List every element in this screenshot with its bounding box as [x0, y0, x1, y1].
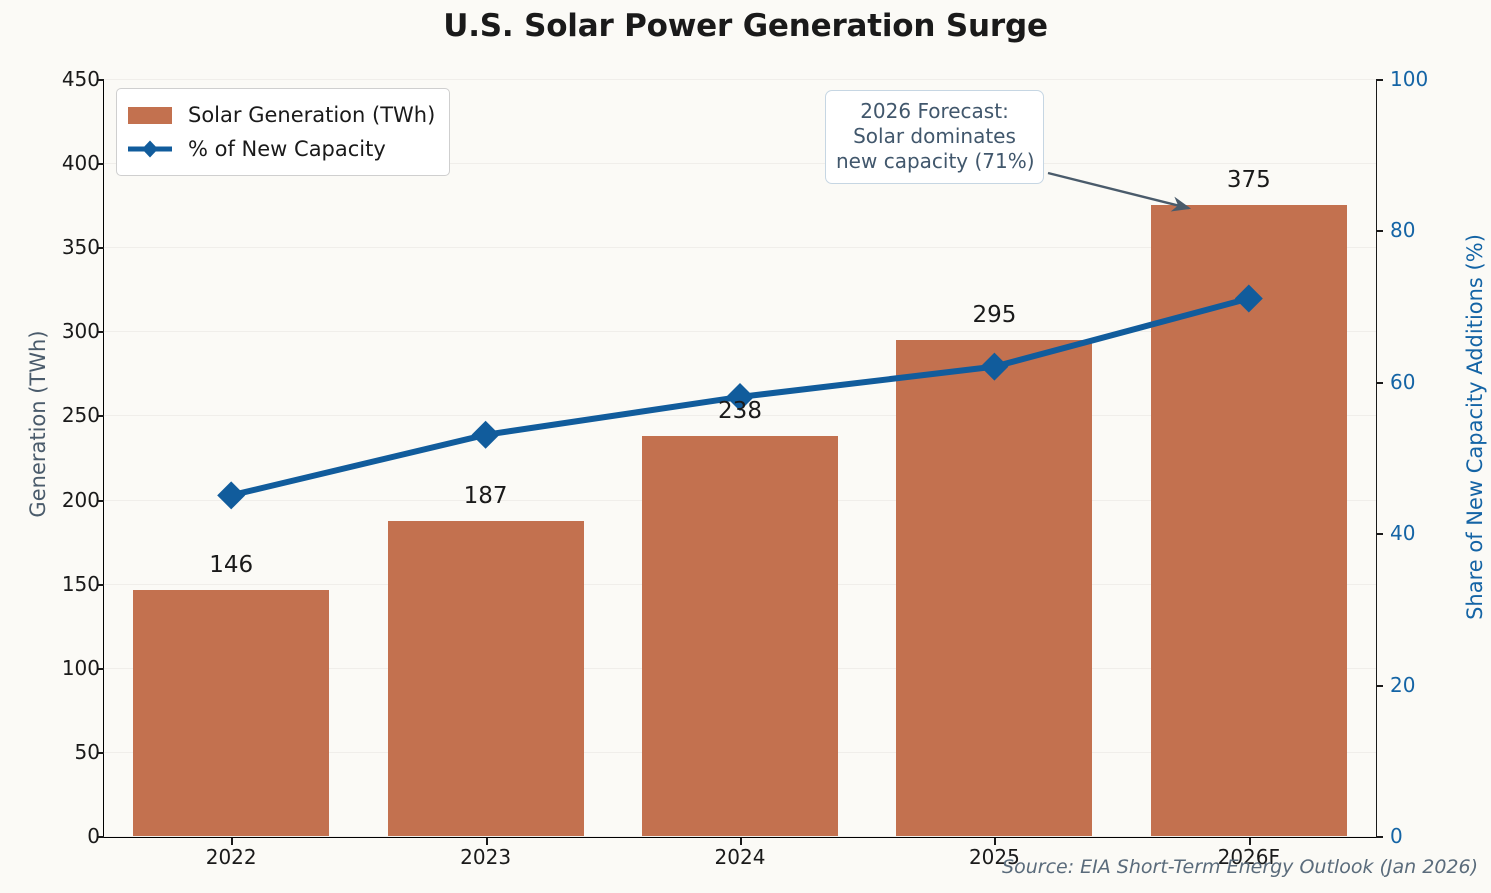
left-axis-tick-label: 250: [62, 403, 100, 427]
plot-area: 146187238295375 Solar Generation (TWh): [104, 79, 1376, 836]
left-axis-tick-label: 100: [62, 656, 100, 680]
left-axis-tick-label: 350: [62, 235, 100, 259]
left-axis-tick-label: 450: [62, 67, 100, 91]
x-axis-tick-mark: [1249, 838, 1251, 845]
bar-value-label: 146: [209, 552, 253, 578]
legend-label-new-capacity: % of New Capacity: [188, 137, 386, 161]
bar[interactable]: [133, 590, 329, 836]
x-axis-tick-mark: [740, 838, 742, 845]
right-axis-tick-mark: [1376, 836, 1383, 838]
line-marker[interactable]: [472, 421, 500, 449]
annotation-line-2: Solar dominates: [836, 124, 1033, 149]
right-axis-tick-label: 20: [1390, 673, 1415, 697]
right-axis-tick-label: 60: [1390, 370, 1415, 394]
left-axis-title: Generation (TWh): [26, 164, 50, 684]
left-axis-tick-label: 300: [62, 319, 100, 343]
left-axis-tick-label: 400: [62, 151, 100, 175]
right-axis-tick-label: 80: [1390, 218, 1415, 242]
left-axis-tick-mark: [97, 668, 104, 670]
legend-item-new-capacity[interactable]: % of New Capacity: [128, 132, 435, 166]
right-axis-tick-label: 0: [1390, 824, 1403, 848]
arrow-line: [1048, 173, 1189, 208]
x-axis-tick-mark: [486, 838, 488, 845]
line-diamond-swatch-icon: [128, 139, 172, 159]
line-marker[interactable]: [217, 481, 245, 509]
annotation-line-1: 2026 Forecast:: [836, 99, 1033, 124]
bar-swatch-icon: [128, 107, 172, 124]
forecast-annotation: 2026 Forecast: Solar dominates new capac…: [825, 90, 1044, 184]
left-axis-tick-mark: [97, 836, 104, 838]
left-axis-tick-mark: [97, 247, 104, 249]
left-axis-tick-mark: [97, 584, 104, 586]
legend-label-solar-generation: Solar Generation (TWh): [188, 103, 435, 127]
source-note: Source: EIA Short-Term Energy Outlook (J…: [0, 856, 1478, 878]
right-axis-tick-mark: [1376, 79, 1383, 81]
left-axis-tick-mark: [97, 500, 104, 502]
left-axis-tick-label: 150: [62, 572, 100, 596]
left-axis-tick-mark: [97, 331, 104, 333]
bar[interactable]: [642, 436, 838, 836]
right-axis-title: Share of New Capacity Additions (%): [1463, 147, 1487, 707]
gridline: [104, 79, 1376, 80]
right-axis-tick-label: 100: [1390, 67, 1428, 91]
left-axis-tick-mark: [97, 79, 104, 81]
left-axis-tick-mark: [97, 752, 104, 754]
chart-legend[interactable]: Solar Generation (TWh) % of New Capacity: [116, 88, 450, 176]
annotation-line-3: new capacity (71%): [836, 149, 1033, 174]
gridline: [104, 836, 1376, 837]
left-axis-tick-mark: [97, 163, 104, 165]
right-axis-tick-mark: [1376, 382, 1383, 384]
x-axis-tick-mark: [231, 838, 233, 845]
bar[interactable]: [388, 521, 584, 836]
bar-value-label: 238: [718, 398, 762, 424]
chart-title: U.S. Solar Power Generation Surge: [0, 8, 1491, 44]
left-axis-tick-label: 200: [62, 488, 100, 512]
left-axis-tick-mark: [97, 415, 104, 417]
bar[interactable]: [896, 340, 1092, 836]
bar-value-label: 375: [1227, 167, 1271, 193]
x-axis-tick-mark: [994, 838, 996, 845]
legend-item-solar-generation[interactable]: Solar Generation (TWh): [128, 98, 435, 132]
chart-figure: U.S. Solar Power Generation Surge 050100…: [0, 0, 1491, 893]
right-axis-tick-label: 40: [1390, 521, 1415, 545]
bar[interactable]: [1151, 205, 1347, 836]
right-axis-tick-mark: [1376, 533, 1383, 535]
right-axis-tick-mark: [1376, 685, 1383, 687]
right-axis-tick-mark: [1376, 230, 1383, 232]
bar-value-label: 187: [464, 483, 508, 509]
bar-value-label: 295: [972, 302, 1016, 328]
